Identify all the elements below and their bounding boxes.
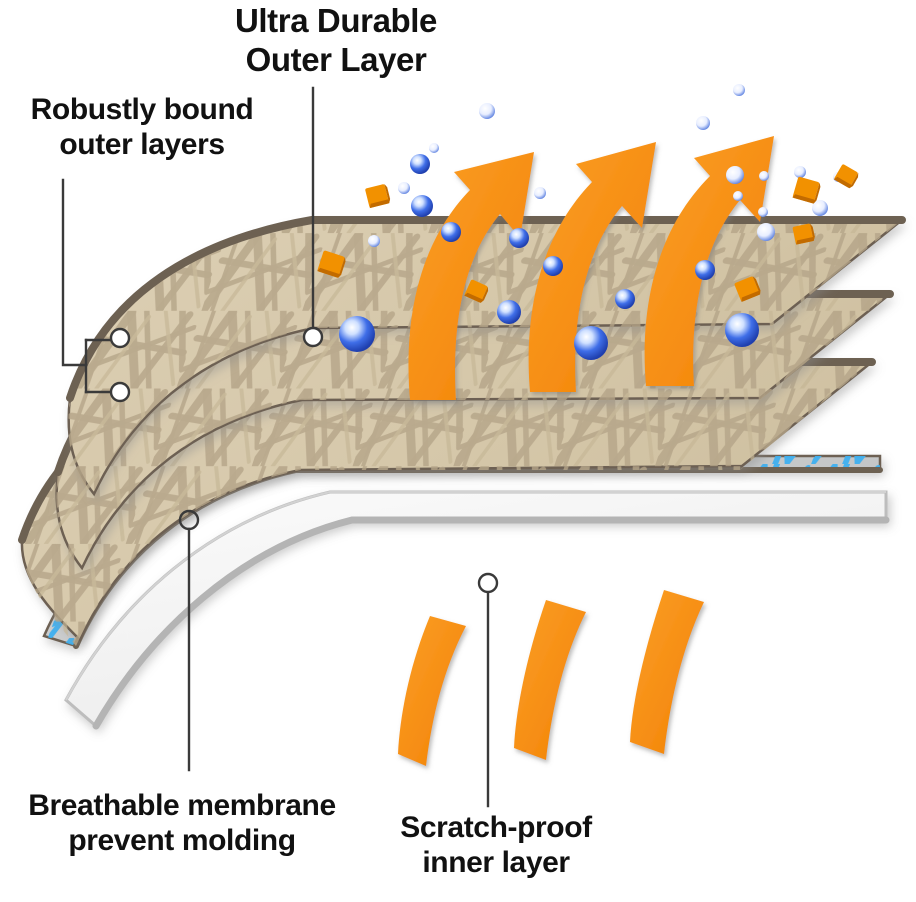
label-ultra-durable-outer-layer: Ultra Durable Outer Layer bbox=[186, 2, 486, 80]
airflow-arrows bbox=[398, 590, 704, 766]
diagram-canvas: Ultra Durable Outer Layer Robustly bound… bbox=[0, 0, 916, 902]
label-robustly-bound-outer-layers: Robustly bound outer layers bbox=[2, 92, 282, 163]
callout-scratch-proof-inner-layer bbox=[479, 574, 497, 806]
callout-breathable-membrane bbox=[180, 511, 198, 770]
label-breathable-membrane: Breathable membrane prevent molding bbox=[2, 788, 362, 859]
label-scratch-proof-inner-layer: Scratch-proof inner layer bbox=[366, 810, 626, 881]
